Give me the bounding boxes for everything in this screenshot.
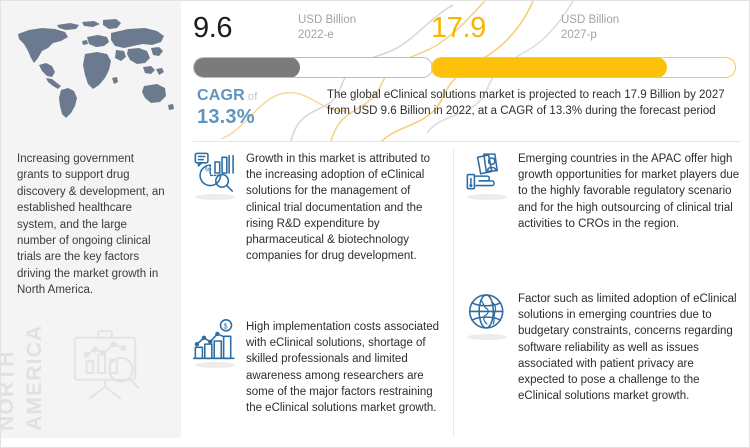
svg-text:$: $ [224,323,228,330]
card-market-growth: % Growth in this market is attributed to… [193,151,441,264]
infographic-root: Increasing government grants to support … [0,0,750,448]
card-opportunities-text: Emerging countries in the APAC offer hig… [518,151,743,232]
cagr-block: CAGRof 13.3% [197,87,325,128]
region-label-line2: AMERICA [23,325,47,431]
cagr-label: CAGR [197,87,245,104]
metric-2022-bar-fill [193,57,300,78]
icon-shadow [467,194,507,200]
metric-2022: 9.6 USD Billion 2022-e [193,9,433,78]
analytics-pie-chart-search-icon: % [193,151,237,195]
metric-2027-bar [431,57,736,78]
market-summary-text: The global eClinical solutions market is… [327,87,739,119]
card-market-growth-text: Growth in this market is attributed to t… [246,151,441,264]
globe-icon [465,291,509,335]
card-restraints: $ High implementation costs associated w… [193,319,441,416]
metric-2027-bar-fill [431,57,667,78]
card-challenges-text: Factor such as limited adoption of eClin… [518,291,743,404]
hand-holding-documents-icon [465,151,509,195]
card-opportunities: Emerging countries in the APAC offer hig… [465,151,743,232]
presentation-chart-magnifier-icon [63,321,147,405]
icon-shadow [195,362,235,368]
world-map-dotted-icon [9,15,175,123]
region-panel: Increasing government grants to support … [1,1,181,438]
metric-2027: 17.9 USD Billion 2027-p [431,9,736,78]
cagr-of-text: of [248,91,258,103]
cagr-value: 13.3% [197,106,325,128]
metric-2022-bar [193,57,433,78]
bar-chart-growth-dollar-icon: $ [193,319,237,363]
vertical-divider [453,149,454,437]
icon-shadow [195,194,235,200]
svg-text:%: % [205,167,212,174]
card-challenges: Factor such as limited adoption of eClin… [465,291,743,404]
metric-2022-label: USD Billion 2022-e [298,13,356,42]
metric-2027-value: 17.9 [431,9,486,47]
card-restraints-text: High implementation costs associated wit… [246,319,441,416]
horizontal-divider [193,141,741,142]
metric-2022-value: 9.6 [193,9,232,47]
metric-2027-label: USD Billion 2027-p [561,13,619,42]
icon-shadow [467,334,507,340]
region-label-line1: NORTH [0,350,19,431]
region-description: Increasing government grants to support … [17,151,169,299]
